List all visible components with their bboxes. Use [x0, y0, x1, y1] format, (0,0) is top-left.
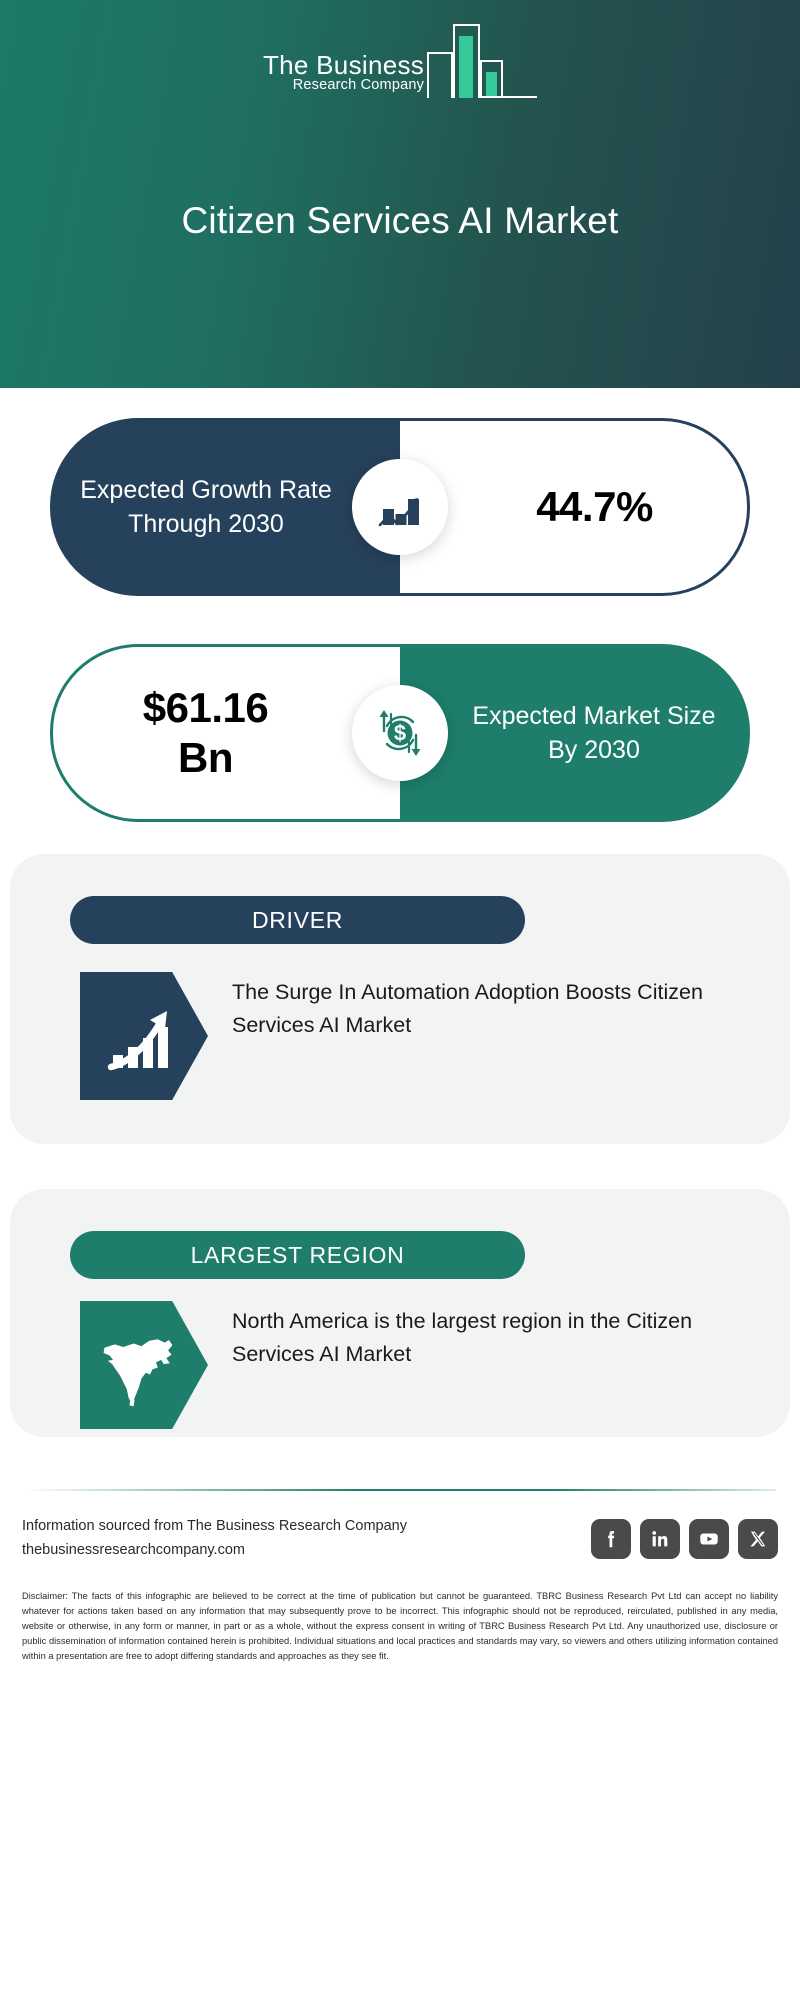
stat-value-line-1: $61.16: [143, 684, 268, 731]
driver-description: The Surge In Automation Adoption Boosts …: [232, 972, 732, 1041]
growth-chart-icon: [352, 459, 448, 555]
stat-value-text: $61.16 Bn: [123, 683, 330, 782]
north-america-map-icon: [80, 1301, 208, 1429]
svg-text:$: $: [394, 721, 406, 746]
stat-value-block: $61.16 Bn: [50, 644, 400, 822]
dollar-circulation-icon: $: [352, 685, 448, 781]
footer-row: Information sourced from The Business Re…: [0, 1491, 800, 1563]
stat-value-text: 44.7%: [474, 482, 673, 532]
stat-value-block: 44.7%: [400, 418, 750, 596]
logo-line-primary: The Business: [263, 52, 424, 79]
social-links: [591, 1519, 778, 1559]
logo-text: The Business Research Company: [263, 52, 424, 98]
stat-value-line-2: Bn: [178, 734, 233, 781]
infographic-page: The Business Research Company Citizen Se…: [0, 0, 800, 2000]
stat-card-market-size: $61.16 Bn Expected Market Size By 2030 $: [50, 644, 750, 822]
stat-label-block: Expected Market Size By 2030: [400, 644, 750, 822]
bar-chart-logo-icon: [427, 22, 537, 98]
driver-section: DRIVER The Surge In Automation Adoption …: [10, 854, 790, 1144]
stat-label-block: Expected Growth Rate Through 2030: [50, 418, 400, 596]
driver-content-row: The Surge In Automation Adoption Boosts …: [80, 972, 732, 1100]
facebook-icon[interactable]: [591, 1519, 631, 1559]
stat-card-growth-rate: Expected Growth Rate Through 2030 44.7%: [50, 418, 750, 596]
company-logo: The Business Research Company: [0, 22, 800, 98]
youtube-icon[interactable]: [689, 1519, 729, 1559]
region-description: North America is the largest region in t…: [232, 1301, 732, 1370]
footer-website[interactable]: thebusinessresearchcompany.com: [22, 1539, 407, 1563]
logo-line-secondary: Research Company: [263, 78, 424, 94]
header-banner: The Business Research Company Citizen Se…: [0, 0, 800, 388]
largest-region-section: LARGEST REGION North America is the larg…: [10, 1189, 790, 1437]
footer-attribution: Information sourced from The Business Re…: [22, 1515, 407, 1563]
driver-pill-label: DRIVER: [70, 896, 525, 944]
stat-label-text: Expected Market Size By 2030: [400, 699, 750, 768]
footer-source-line: Information sourced from The Business Re…: [22, 1515, 407, 1539]
linkedin-icon[interactable]: [640, 1519, 680, 1559]
x-twitter-icon[interactable]: [738, 1519, 778, 1559]
stat-label-text: Expected Growth Rate Through 2030: [50, 473, 400, 542]
region-content-row: North America is the largest region in t…: [80, 1301, 732, 1429]
page-title: Citizen Services AI Market: [0, 200, 800, 242]
growth-arrow-pentagon-icon: [80, 972, 208, 1100]
region-pill-label: LARGEST REGION: [70, 1231, 525, 1279]
footer-disclaimer: Disclaimer: The facts of this infographi…: [0, 1563, 800, 1664]
